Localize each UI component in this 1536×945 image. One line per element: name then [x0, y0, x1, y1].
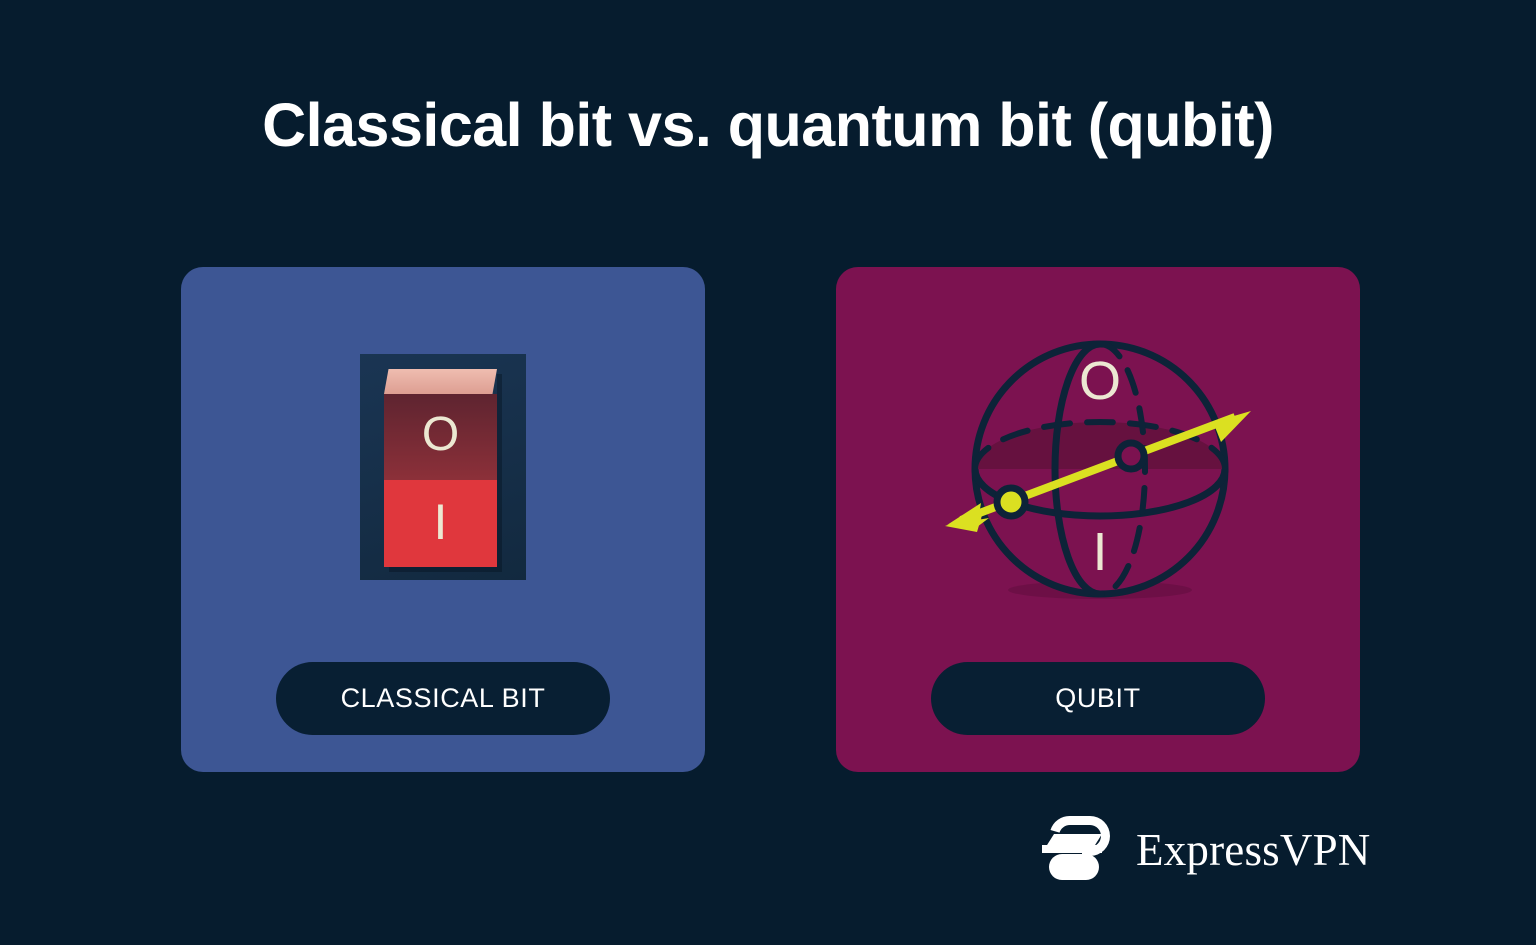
brand-wordmark: ExpressVPN: [1136, 828, 1371, 873]
card-qubit: O I QUBIT: [836, 267, 1360, 772]
switch-rocker: O I: [384, 369, 497, 567]
label-pill-qubit[interactable]: QUBIT: [931, 662, 1265, 735]
toggle-switch-graphic: O I: [360, 354, 526, 580]
expressvpn-e-icon: [1040, 812, 1118, 889]
switch-symbol-off: O: [384, 411, 497, 459]
infographic-canvas: Classical bit vs. quantum bit (qubit) O …: [0, 0, 1536, 945]
switch-symbol-on: I: [384, 497, 497, 547]
sphere-symbol-top: O: [1079, 351, 1121, 411]
switch-top-bevel: [384, 369, 497, 394]
sphere-symbol-bottom: I: [1092, 522, 1107, 582]
page-title: Classical bit vs. quantum bit (qubit): [0, 92, 1536, 159]
card-classical-bit: O I CLASSICAL BIT: [181, 267, 705, 772]
state-dot-hollow: [1118, 443, 1144, 469]
bloch-sphere-graphic: O I: [933, 322, 1263, 612]
label-pill-classical-bit[interactable]: CLASSICAL BIT: [276, 662, 610, 735]
state-dot-filled: [997, 488, 1025, 516]
brand-logo[interactable]: ExpressVPN: [1040, 812, 1371, 889]
